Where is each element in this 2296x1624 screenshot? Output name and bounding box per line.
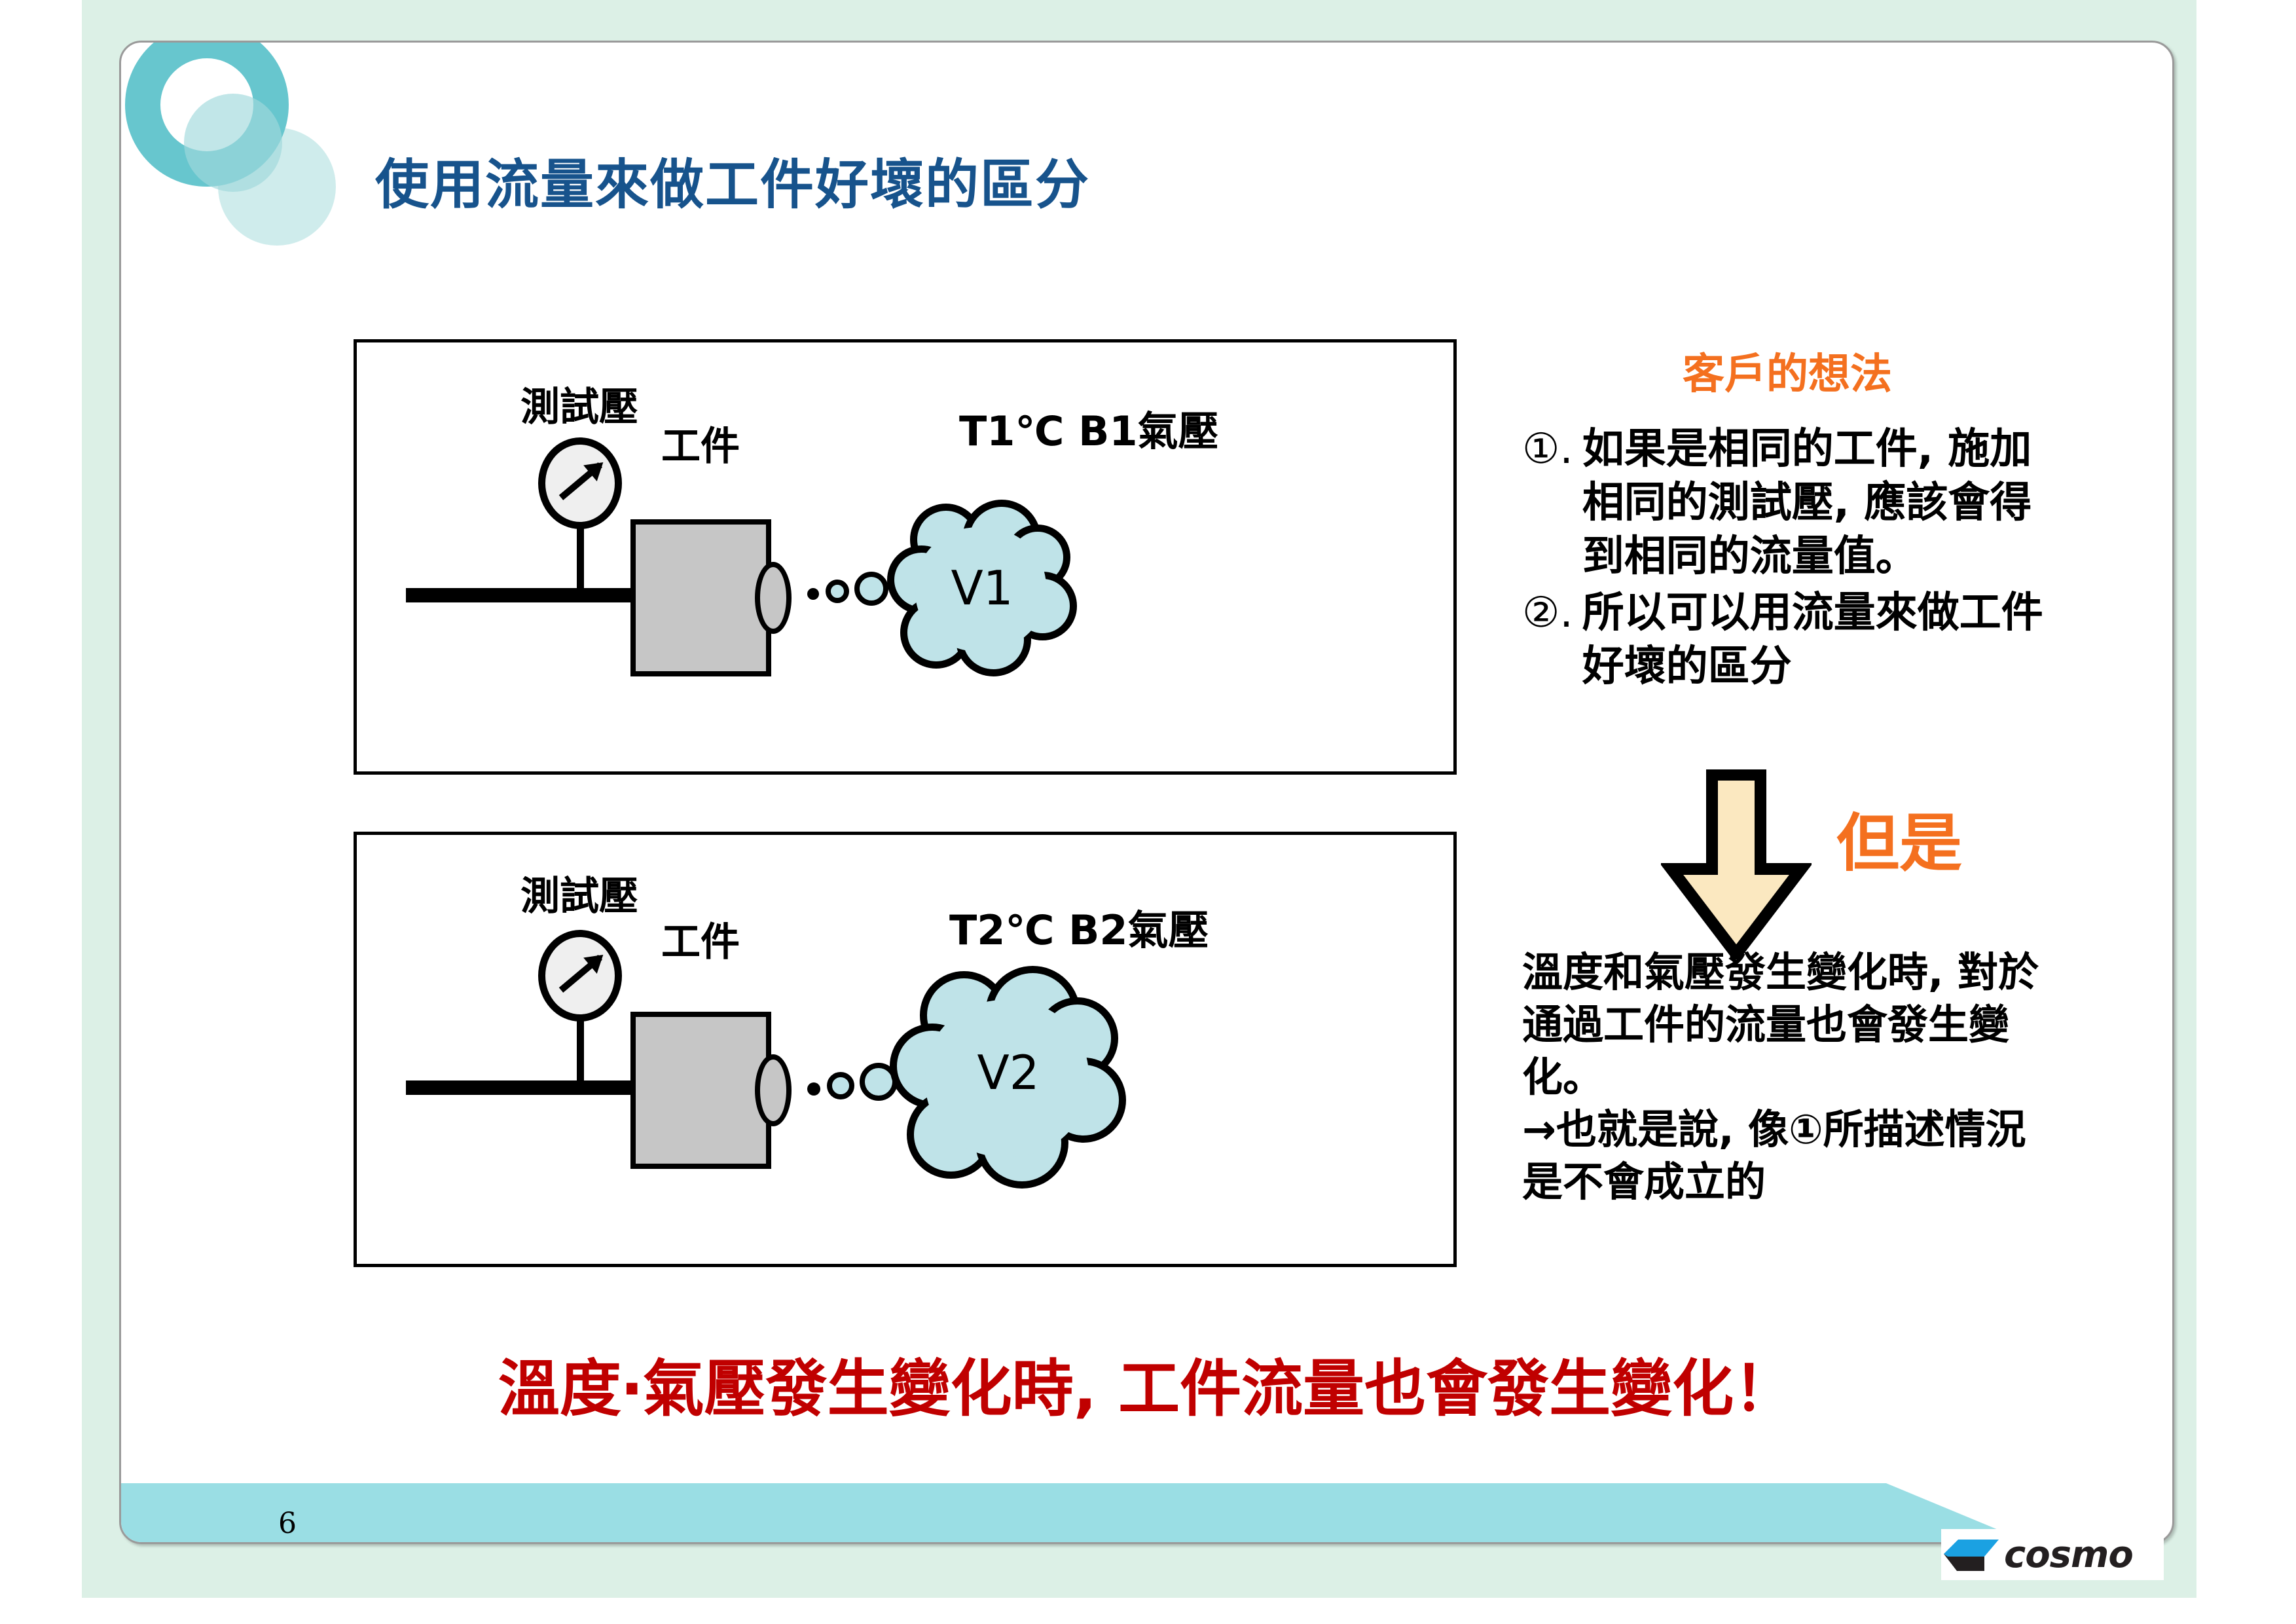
list-line: 好壞的區分: [1582, 640, 2043, 693]
list-line: 如果是相同的工件, 施加: [1582, 422, 2032, 476]
supply-pipe-1: [406, 588, 668, 602]
gauge-needle-icon-1: [559, 462, 602, 500]
note-line: 是不會成立的: [1522, 1156, 2174, 1208]
air-bubble-small-1: [807, 588, 819, 600]
diagram-box-case-1: 測試壓 工件 T1℃ B1氣壓: [354, 339, 1457, 775]
outlet-nozzle-icon-2: [755, 1054, 792, 1126]
slide-card: 使用流量來做工件好壞的區分 測試壓 工件 T1℃ B1氣壓: [119, 41, 2174, 1544]
cosmo-wordmark: cosmo: [2004, 1534, 2133, 1576]
list-text: 所以可以用流量來做工件 好壞的區分: [1582, 586, 2043, 693]
list-marker: ①.: [1522, 422, 1582, 476]
air-bubble-medium-1: [826, 580, 849, 603]
conclusion-note: 溫度和氣壓發生變化時, 對於 通過工件的流量也會發生變 化。 →也就是說, 像①…: [1522, 946, 2174, 1208]
list-line: 所以可以用流量來做工件: [1582, 586, 2043, 640]
note-line: 化。: [1522, 1051, 2174, 1103]
workpiece-label-1: 工件: [661, 415, 740, 471]
list-item: ①. 如果是相同的工件, 施加 相同的測試壓, 應該會得 到相同的流量值。: [1522, 422, 2174, 583]
note-line: 溫度和氣壓發生變化時, 對於: [1522, 946, 2174, 999]
page-title: 使用流量來做工件好壞的區分: [375, 141, 1090, 219]
note-line: 通過工件的流量也會發生變: [1522, 999, 2174, 1051]
condition-label-1: T1℃ B1氣壓: [959, 398, 1219, 457]
page-number: 6: [278, 1507, 297, 1540]
gauge-label-2: 測試壓: [520, 864, 638, 921]
summary-banner: 溫度‧氣壓發生變化時, 工件流量也會發生變化！: [121, 1339, 2172, 1428]
list-text: 如果是相同的工件, 施加 相同的測試壓, 應該會得 到相同的流量值。: [1582, 422, 2032, 583]
workpiece-label-2: 工件: [661, 910, 740, 967]
cosmo-mark-icon: [1941, 1534, 2001, 1575]
but-label: 但是: [1836, 792, 1962, 883]
diagram-box-case-2: 測試壓 工件 T2℃ B2氣壓: [354, 832, 1457, 1267]
workpiece-block-2: [630, 1012, 771, 1169]
list-marker: ②.: [1522, 586, 1582, 640]
logo-ring-shade-icon: [184, 94, 282, 192]
pressure-gauge-icon-2: [538, 930, 622, 1022]
condition-label-2: T2℃ B2氣壓: [949, 897, 1209, 956]
customer-thought-heading: 客戶的想法: [1683, 341, 1892, 401]
cosmo-logo: cosmo: [1941, 1529, 2164, 1580]
brand-rings-logo: [121, 43, 337, 259]
list-line: 到相同的流量值。: [1582, 530, 2032, 583]
volume-label-2: V2: [933, 1024, 1084, 1122]
pressure-gauge-icon-1: [538, 437, 622, 529]
customer-thought-list: ①. 如果是相同的工件, 施加 相同的測試壓, 應該會得 到相同的流量值。 ②.…: [1522, 422, 2174, 696]
air-bubble-small-2: [807, 1082, 820, 1096]
outlet-nozzle-icon-1: [755, 562, 792, 634]
gauge-stem-2: [577, 1018, 584, 1086]
note-line: →也就是說, 像①所描述情況: [1522, 1103, 2174, 1156]
air-bubble-medium-2: [827, 1072, 854, 1099]
footer-bar: [119, 1483, 2056, 1544]
gauge-needle-icon-2: [559, 955, 602, 993]
gauge-stem-1: [577, 526, 584, 594]
workpiece-block-1: [630, 519, 771, 676]
air-volume-cloud-2: V2: [887, 966, 1129, 1189]
list-item: ②. 所以可以用流量來做工件 好壞的區分: [1522, 586, 2174, 693]
supply-pipe-2: [406, 1080, 668, 1095]
volume-label-1: V1: [923, 545, 1041, 631]
gauge-label-1: 測試壓: [520, 375, 638, 432]
down-arrow-icon: [1661, 769, 1812, 959]
list-line: 相同的測試壓, 應該會得: [1582, 476, 2032, 530]
air-volume-cloud-1: V1: [884, 500, 1080, 676]
